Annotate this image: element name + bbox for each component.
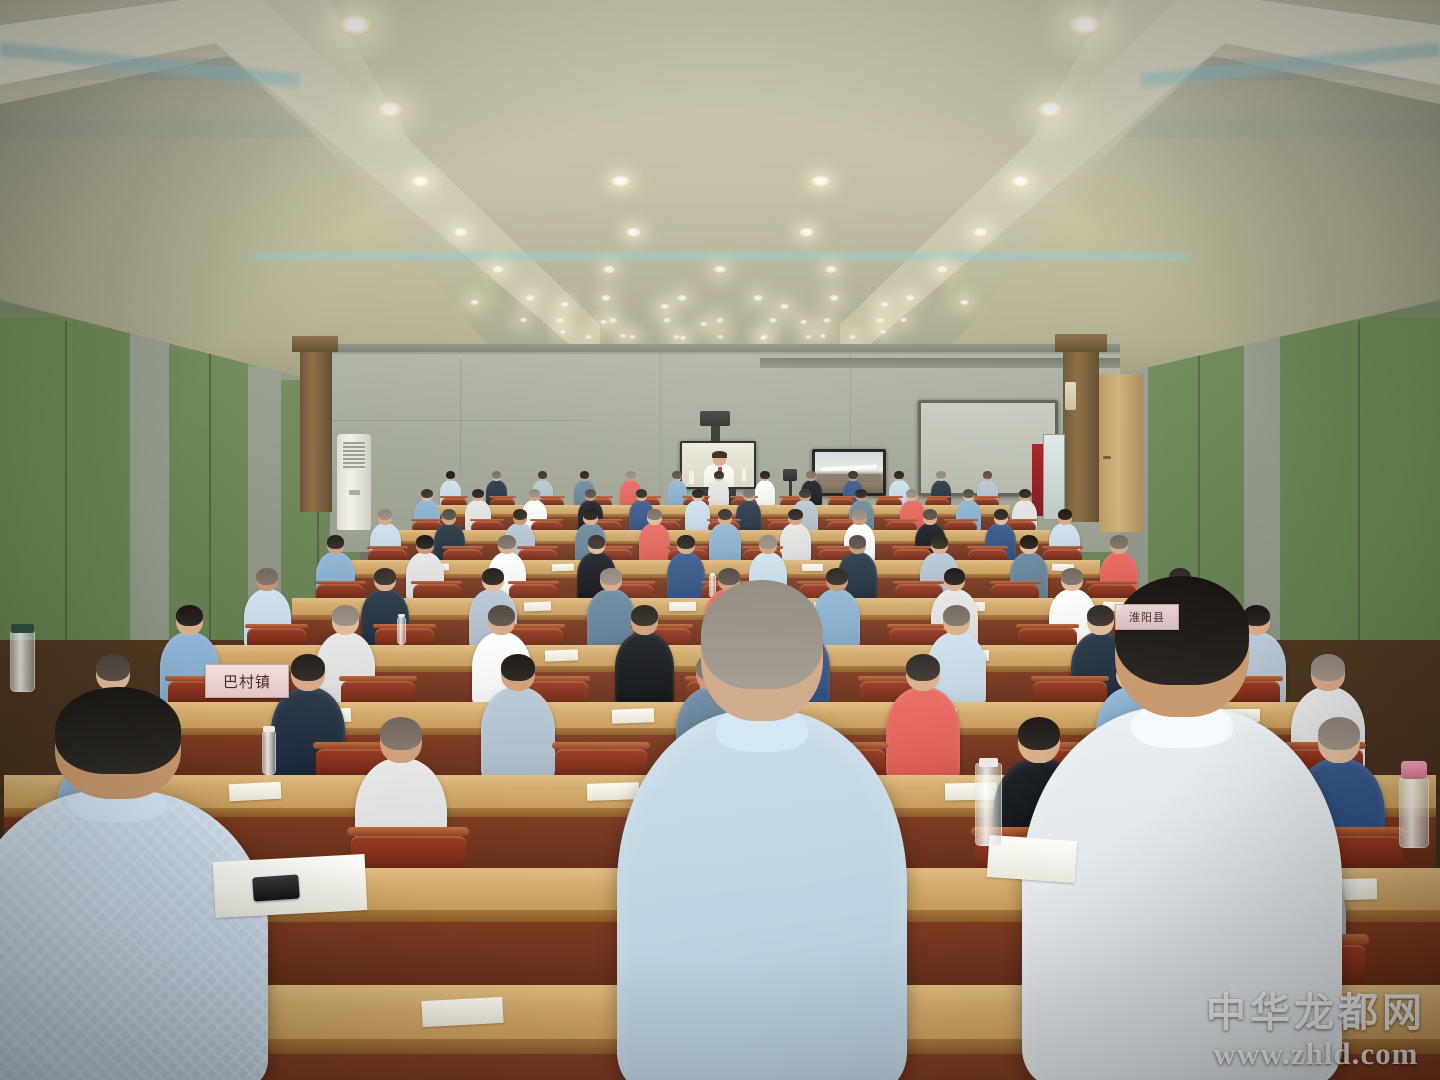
attendee-hair	[416, 535, 434, 549]
chair-top-rail	[967, 546, 1008, 549]
paper-sheet	[421, 996, 503, 1027]
chair-top-rail	[1042, 546, 1083, 549]
foreground-attendee-right-body	[1022, 706, 1342, 1080]
attendee-hair	[931, 535, 949, 549]
attendee-hair	[936, 471, 946, 478]
attendee-hair	[906, 654, 940, 681]
chair-top-rail	[1004, 519, 1037, 521]
water-bottle-cap	[398, 614, 405, 618]
attendee-hair	[176, 605, 203, 626]
attendee-hair	[256, 568, 278, 585]
chair-top-rail	[411, 519, 444, 521]
chair-top-rail	[893, 581, 944, 585]
attendee-hair	[327, 535, 345, 549]
attendee-hair	[677, 535, 695, 549]
attendee-hair	[472, 489, 484, 498]
attendee-hair	[636, 489, 648, 498]
attendee-hair	[718, 568, 740, 585]
foreground-attendee-left-shirt-pattern	[0, 790, 268, 1080]
attendee-hair	[96, 654, 130, 681]
chair-top-rail	[367, 546, 408, 549]
desk-placard-bacun-label: 巴村镇	[223, 671, 271, 692]
paper-sheet	[551, 563, 573, 571]
attendee-hair	[906, 489, 918, 498]
paper-sheet	[669, 602, 696, 611]
chair-top-rail	[1031, 676, 1109, 682]
attendee-hair	[374, 568, 396, 585]
foreground-attendee-center-hair	[701, 580, 823, 689]
attendee-hair	[788, 509, 802, 520]
chair-top-rail	[990, 581, 1041, 585]
attendee-body	[667, 552, 705, 602]
attendee-hair	[923, 509, 937, 520]
paper-sheet	[524, 602, 551, 612]
chair-top-rail	[440, 496, 467, 498]
water-bottle-center-cap	[979, 758, 998, 767]
chair-top-rail	[827, 496, 854, 498]
attendee-hair	[488, 605, 515, 626]
attendee-hair	[714, 471, 724, 478]
chair-top-rail	[530, 519, 563, 521]
attendee-hair	[332, 605, 359, 626]
attendee-hair	[760, 471, 770, 478]
attendee-body	[708, 480, 729, 507]
chair-top-rail	[470, 519, 503, 521]
attendee-hair	[855, 489, 867, 498]
tea-tumbler-left-cap	[11, 624, 34, 633]
attendee-hair	[826, 568, 848, 585]
foreground-attendee-right-hair	[1115, 576, 1249, 685]
water-bottle-center	[975, 763, 1002, 846]
attendee-hair	[1110, 535, 1128, 549]
attendee-hair	[692, 489, 704, 498]
attendee-hair	[600, 568, 622, 585]
water-bottle	[262, 731, 276, 775]
attendee-hair	[994, 509, 1008, 520]
attendee-hair	[672, 471, 682, 478]
chair-top-rail	[347, 827, 470, 836]
chair-top-rail	[924, 496, 951, 498]
attendee-hair	[1018, 717, 1061, 750]
attendee-hair	[380, 717, 423, 750]
attendee-hair	[1020, 535, 1038, 549]
seating-area	[0, 0, 1440, 1080]
attendee-hair	[983, 471, 993, 478]
tea-tumbler-left	[10, 630, 35, 692]
attendee-hair	[963, 489, 975, 498]
attendee-hair	[492, 471, 502, 478]
smartphone	[252, 874, 300, 901]
chair-top-rail	[972, 496, 999, 498]
chair-top-rail	[552, 742, 650, 749]
attendee-body	[639, 523, 670, 563]
attendee-hair	[1087, 605, 1114, 626]
chair-top-rail	[517, 546, 558, 549]
attendee-hair	[538, 471, 548, 478]
sport-bottle-right	[1399, 778, 1429, 848]
chair-top-rail	[887, 624, 950, 628]
conference-hall-photo: 巴村镇 淮阳县 中华龙都网 www.zhld.com	[0, 0, 1440, 1080]
paper-sheet	[586, 782, 639, 801]
attendee-body	[709, 523, 740, 563]
chair-top-rail	[892, 546, 933, 549]
attendee-hair	[799, 489, 811, 498]
chair-top-rail	[245, 624, 308, 628]
paper-sheet	[545, 650, 579, 662]
attendee-hair	[501, 654, 535, 681]
attendee-hair	[580, 471, 590, 478]
attendee-hair	[529, 489, 541, 498]
chair-top-rail	[875, 496, 902, 498]
attendee-hair	[718, 509, 732, 520]
attendee-hair	[852, 509, 866, 520]
paper-sheet	[228, 782, 281, 802]
attendee-body	[886, 687, 960, 783]
attendee-hair	[291, 654, 325, 681]
foreground-attendee-left-hair	[55, 687, 181, 773]
attendee-hair	[585, 489, 597, 498]
attendee-hair	[944, 568, 966, 585]
chair-top-rail	[1086, 581, 1137, 585]
attendee-hair	[631, 605, 658, 626]
attendee-hair	[849, 535, 867, 549]
attendee-hair	[1058, 509, 1072, 520]
sport-bottle-right-cap	[1401, 761, 1427, 779]
attendee-hair	[647, 509, 661, 520]
attendee-hair	[1019, 489, 1031, 498]
desk-placard-huaiyang: 淮阳县	[1115, 604, 1179, 630]
chair-top-rail	[508, 581, 559, 585]
water-bottle-cap	[263, 726, 275, 732]
attendee-hair	[513, 509, 527, 520]
attendee-hair	[894, 471, 904, 478]
attendee-hair	[759, 535, 777, 549]
attendee-hair	[588, 535, 606, 549]
attendee-hair	[482, 568, 504, 585]
chair-top-rail	[885, 519, 918, 521]
attendee-hair	[1061, 568, 1083, 585]
attendee-hair	[498, 535, 516, 549]
attendee-body	[481, 687, 555, 783]
attendee-hair	[1311, 654, 1345, 681]
attendee-body	[736, 500, 761, 533]
chair-top-rail	[442, 546, 483, 549]
chair-top-rail	[411, 581, 462, 585]
attendee-body	[780, 523, 811, 563]
attendee-hair	[848, 471, 858, 478]
chair-top-rail	[315, 581, 366, 585]
desk-placard-bacun: 巴村镇	[205, 664, 289, 698]
paper-sheet	[802, 564, 824, 571]
attendee-body	[685, 500, 710, 533]
chair-top-rail	[537, 496, 564, 498]
attendee-hair	[446, 471, 456, 478]
chair-top-rail	[489, 496, 516, 498]
foreground-attendee-center-body	[617, 710, 907, 1080]
water-bottle	[397, 617, 406, 645]
attendee-hair	[806, 471, 816, 478]
desk-placard-huaiyang-label: 淮阳县	[1129, 609, 1165, 625]
attendee-body	[615, 632, 674, 709]
attendee-hair	[943, 605, 970, 626]
attendee-hair	[421, 489, 433, 498]
chair-top-rail	[339, 676, 417, 682]
attendee-hair	[743, 489, 755, 498]
paper-sheet	[612, 708, 654, 723]
attendee-hair	[626, 471, 636, 478]
chair-top-rail	[944, 519, 977, 521]
attendee-hair	[1318, 717, 1361, 750]
chair-top-rail	[1016, 624, 1079, 628]
attendee-hair	[583, 509, 597, 520]
attendee-body	[755, 480, 776, 507]
water-bottle-cap	[710, 573, 715, 576]
